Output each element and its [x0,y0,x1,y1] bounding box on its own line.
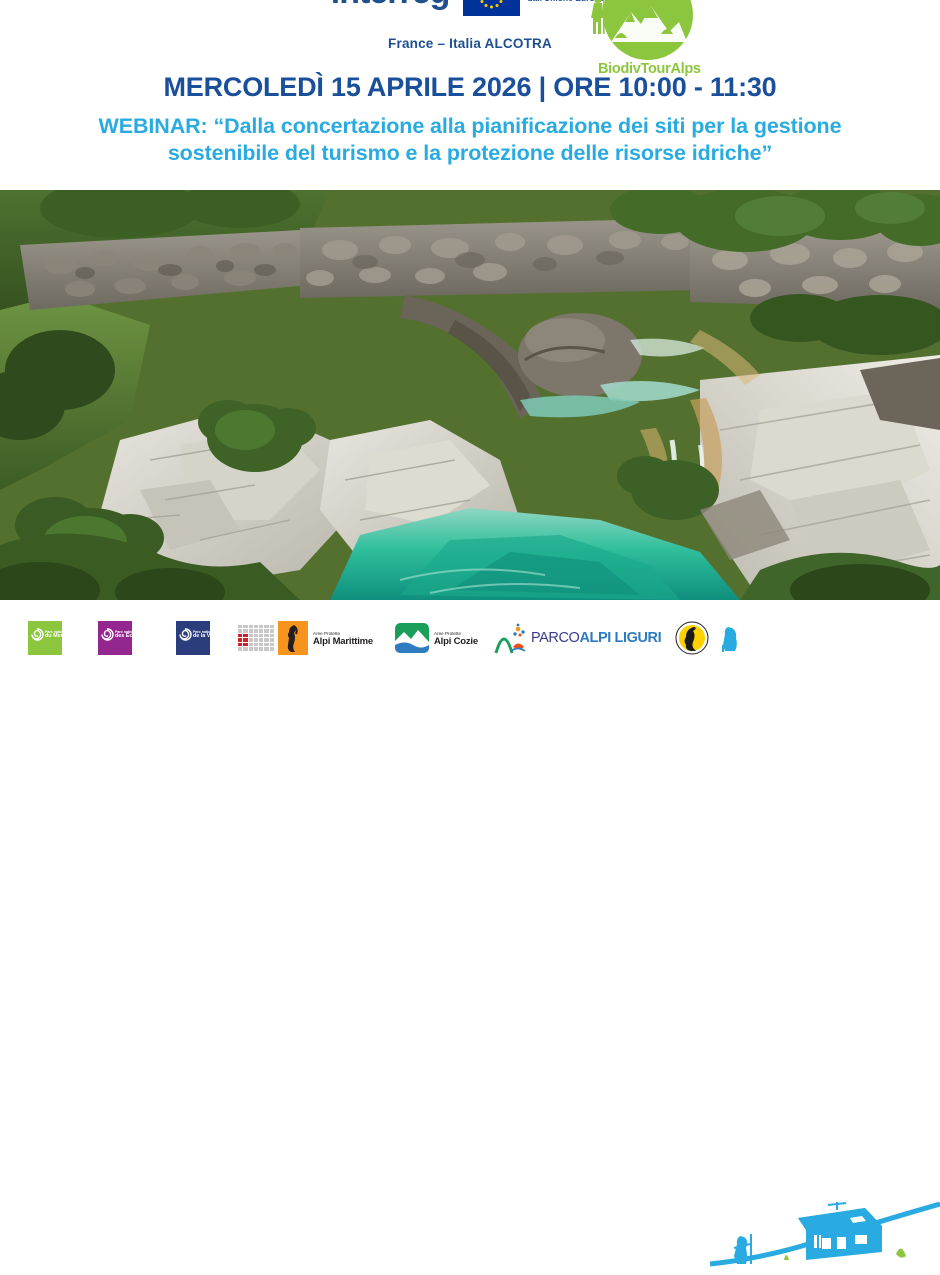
liguri-mark-icon [494,621,528,655]
biodiv-circle-icon [603,0,693,60]
logo-marguareis [675,621,709,655]
interreg-logo: interreg [331,0,450,10]
alpi-liguri-label: PARCOALPI LIGURI [531,630,661,646]
logo-alpi-liguri: PARCOALPI LIGURI [494,621,661,655]
poster-header: interreg Co [0,0,940,190]
refuge-decoration [710,1202,940,1275]
logo-ecrins: Parc national des Écrins [98,621,132,655]
interreg-wordmark: interreg [331,0,450,10]
gorge-scene-illustration [0,190,940,600]
spiral-icon [31,628,44,641]
hiker-icon [585,0,611,38]
logo-mercantour: Parc national du Mercantour [28,621,62,655]
webinar-poster: interreg Co [0,0,940,675]
ibex-icon [278,621,308,655]
vanoise-label: Parc national de la Vanoise [193,630,210,639]
programme-label: France – Italia ALCOTRA [0,36,940,51]
hero-photo [0,190,940,600]
mountain-refuge-icon [710,1202,940,1275]
mercantour-label: Parc national du Mercantour [45,630,62,639]
logo-alpi-cozie: Aree Protette Alpi Cozie [395,623,478,653]
blue-figure-icon [719,623,745,653]
piemonte-grid-icon [238,625,274,651]
eu-stars-icon [463,0,520,16]
spiral-icon [179,628,192,641]
logo-alpi-marittime: Aree Protette Alpi Marittime [278,621,373,655]
poster-footer: Parc national du Mercantour Parc nationa… [0,600,940,675]
eu-flag-icon [463,0,520,16]
partner-logos-row: Parc national du Mercantour Parc nationa… [0,600,940,675]
logo-vanoise: Parc national de la Vanoise [176,621,210,655]
event-date-time: MERCOLEDÌ 15 APRILE 2026 | ORE 10:00 - 1… [0,72,940,103]
ecrins-label: Parc national des Écrins [115,630,132,639]
webinar-title: WEBINAR: “Dalla concertazione alla piani… [0,113,940,167]
logo-regione-piemonte [238,625,274,651]
spiral-icon [101,628,114,641]
cozie-mountain-icon [395,623,429,653]
alpi-cozie-label: Aree Protette Alpi Cozie [434,630,478,646]
chamois-roundel-icon [675,621,709,655]
alpi-marittime-label: Aree Protette Alpi Marittime [313,630,373,646]
